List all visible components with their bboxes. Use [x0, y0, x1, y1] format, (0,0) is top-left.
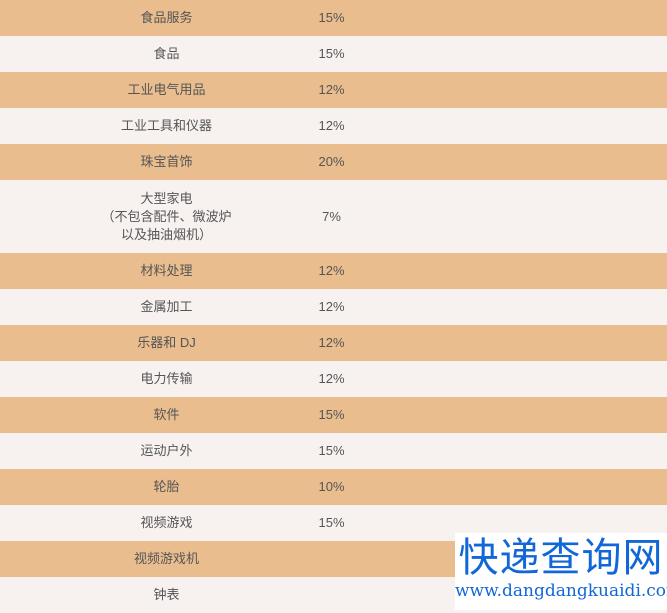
rate-cell: 15% — [333, 505, 667, 541]
table-row: 轮胎10% — [0, 469, 667, 505]
rate-cell: 12% — [333, 361, 667, 397]
rate-cell: 15% — [333, 397, 667, 433]
rate-value: 12% — [165, 262, 498, 280]
table-row: 食品服务15% — [0, 0, 667, 36]
table-row: 电力传输12% — [0, 361, 667, 397]
category-line: 视频游戏机 — [0, 550, 333, 568]
rate-value: 20% — [165, 153, 498, 171]
rate-cell: 20% — [333, 144, 667, 180]
table-row: 视频游戏15% — [0, 505, 667, 541]
rate-cell: 12% — [333, 108, 667, 144]
rate-cell: 15% — [333, 433, 667, 469]
table-row: 珠宝首饰20% — [0, 144, 667, 180]
table-row: 金属加工12% — [0, 289, 667, 325]
rate-value: 12% — [165, 298, 498, 316]
rate-value: 10% — [165, 478, 498, 496]
table-row: 软件15% — [0, 397, 667, 433]
rate-value: 15% — [165, 514, 498, 532]
rate-cell: 10% — [333, 469, 667, 505]
rate-value: 15% — [165, 45, 498, 63]
table-row: 材料处理12% — [0, 253, 667, 289]
rate-value: 15% — [165, 442, 498, 460]
table-row: 工业工具和仪器12% — [0, 108, 667, 144]
table-row: 运动户外15% — [0, 433, 667, 469]
table-row: 视频游戏机 — [0, 541, 667, 577]
rate-cell: 7% — [333, 180, 667, 253]
rate-cell — [333, 541, 667, 577]
table-body: 食品服务15%食品15%工业电气用品12%工业工具和仪器12%珠宝首饰20%大型… — [0, 0, 667, 613]
rate-value: 15% — [165, 9, 498, 27]
rate-cell: 15% — [333, 0, 667, 36]
category-label: 视频游戏机 — [0, 550, 333, 568]
rate-cell: 12% — [333, 289, 667, 325]
rate-cell — [333, 577, 667, 613]
table-row: 工业电气用品12% — [0, 72, 667, 108]
table-row: 乐器和 DJ12% — [0, 325, 667, 361]
rate-value: 15% — [165, 406, 498, 424]
category-label: 钟表 — [0, 586, 333, 604]
commission-rate-table: 食品服务15%食品15%工业电气用品12%工业工具和仪器12%珠宝首饰20%大型… — [0, 0, 667, 613]
table-row: 食品15% — [0, 36, 667, 72]
rate-cell: 15% — [333, 36, 667, 72]
table-row: 大型家电（不包含配件、微波炉以及抽油烟机）7% — [0, 180, 667, 253]
category-cell: 视频游戏机 — [0, 541, 333, 577]
category-line: 大型家电 — [0, 190, 333, 208]
rate-value: 12% — [165, 117, 498, 135]
rate-value: 12% — [165, 334, 498, 352]
rate-cell: 12% — [333, 253, 667, 289]
category-line: 以及抽油烟机） — [0, 226, 333, 244]
category-line: 钟表 — [0, 586, 333, 604]
rate-cell: 12% — [333, 325, 667, 361]
rate-value: 12% — [165, 81, 498, 99]
table-row: 钟表 — [0, 577, 667, 613]
rate-value: 12% — [165, 370, 498, 388]
category-cell: 钟表 — [0, 577, 333, 613]
rate-cell: 12% — [333, 72, 667, 108]
